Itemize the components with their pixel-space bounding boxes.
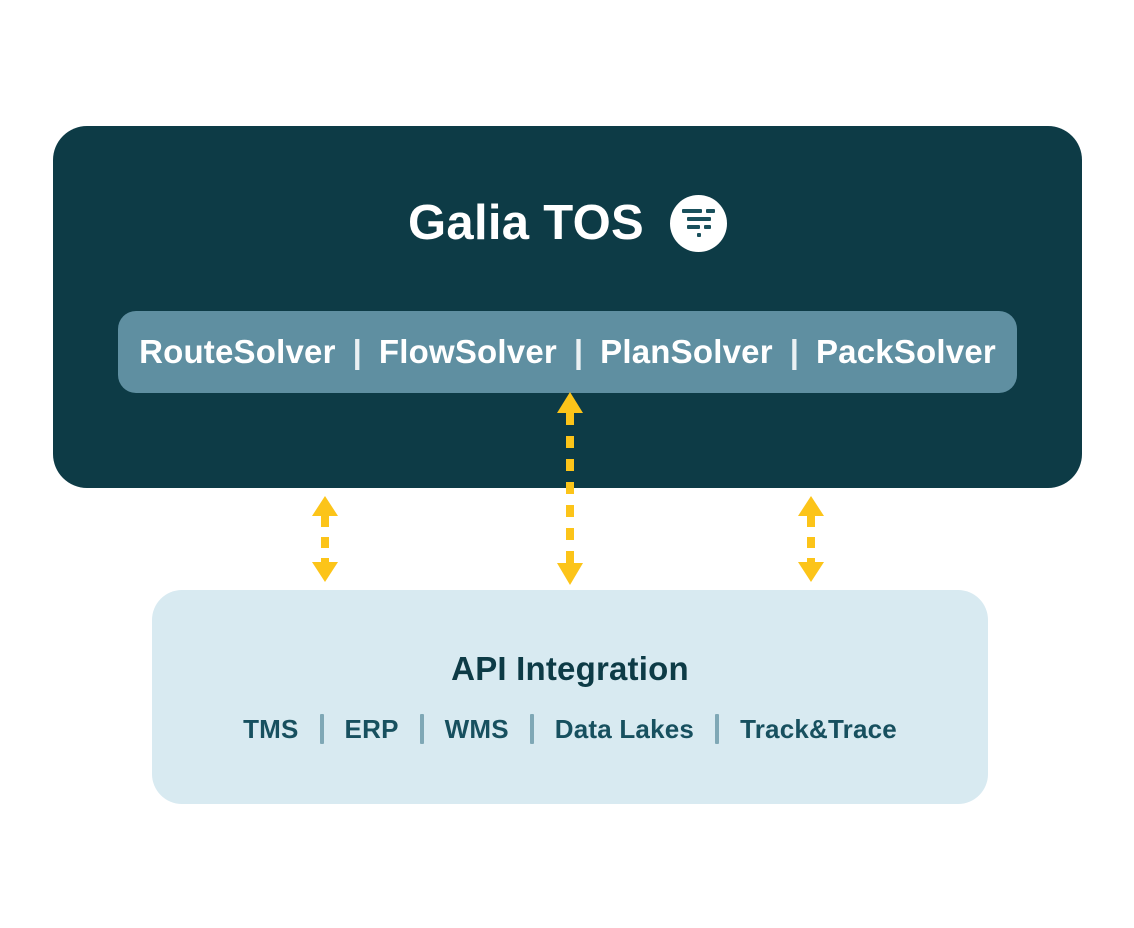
solver-item-routesolver[interactable]: RouteSolver [139,333,336,371]
api-integration-card: API Integration TMS ERP WMS Data Lakes T… [152,590,988,804]
funnel-bar [687,225,700,229]
api-item-tms[interactable]: TMS [243,714,298,745]
galia-tos-title-row: Galia TOS [53,188,1082,258]
left-connector [300,494,350,584]
funnel-bar [682,209,702,213]
api-separator [320,714,324,744]
api-item-erp[interactable]: ERP [345,714,399,745]
funnel-logo-row-4 [697,233,701,237]
api-separator [530,714,534,744]
funnel-logo-row-2 [687,217,711,221]
galia-tos-title: Galia TOS [408,199,644,248]
solver-separator: | [790,333,799,371]
solver-item-packsolver[interactable]: PackSolver [816,333,996,371]
api-item-track-and-trace[interactable]: Track&Trace [740,714,897,745]
solver-list: RouteSolver | FlowSolver | PlanSolver | … [139,333,996,371]
api-separator [420,714,424,744]
solver-item-plansolver[interactable]: PlanSolver [600,333,773,371]
api-separator [715,714,719,744]
api-item-data-lakes[interactable]: Data Lakes [555,714,694,745]
api-integration-list: TMS ERP WMS Data Lakes Track&Trace [243,714,897,745]
funnel-logo-row-1 [682,209,715,213]
funnel-logo-row-3 [687,225,711,229]
funnel-bar [704,225,711,229]
funnel-bar [697,233,701,237]
funnel-bar [706,209,715,213]
funnel-bar [687,217,711,221]
solver-separator: | [353,333,362,371]
api-item-wms[interactable]: WMS [445,714,509,745]
right-connector [786,494,836,584]
solver-item-flowsolver[interactable]: FlowSolver [379,333,557,371]
center-connector [545,390,595,587]
solver-bar: RouteSolver | FlowSolver | PlanSolver | … [118,311,1017,393]
funnel-logo-icon [670,195,727,252]
diagram-canvas: Galia TOS RouteSolver [0,0,1134,928]
solver-separator: | [574,333,583,371]
api-integration-title: API Integration [451,650,689,688]
